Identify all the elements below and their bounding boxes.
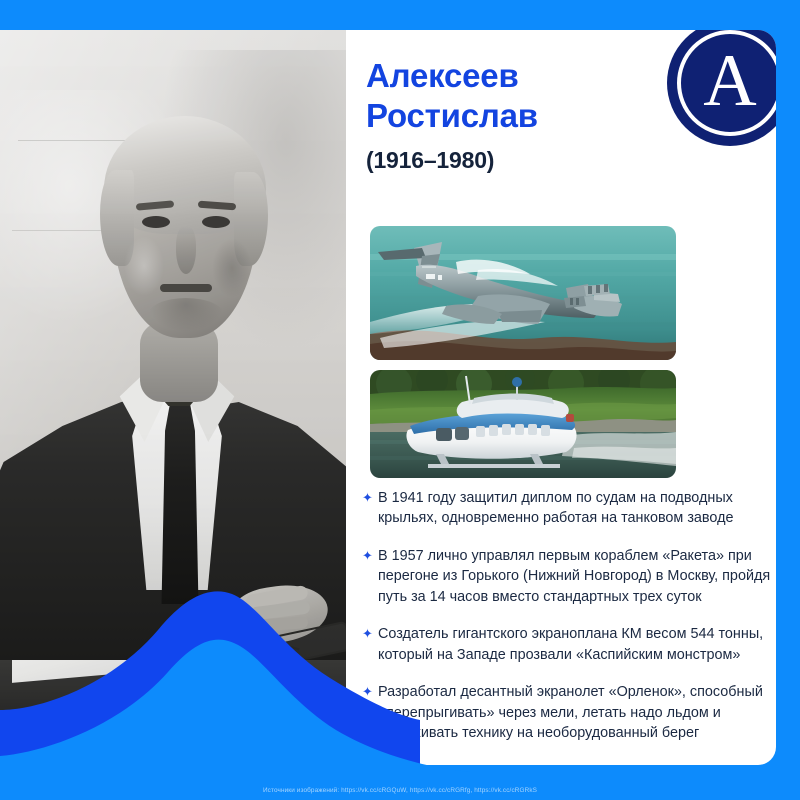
life-years: (1916–1980) bbox=[366, 147, 656, 174]
content-column: Алексеев Ростислав (1916–1980) A bbox=[362, 30, 776, 765]
image-sources-footer: Источники изображений: https://vk.cc/cRG… bbox=[0, 787, 800, 794]
list-item-text: В 1941 году защитил диплом по судам на п… bbox=[378, 490, 734, 526]
page-title: Алексеев Ростислав (1916–1980) bbox=[366, 56, 656, 174]
diamond-bullet-icon: ✦ bbox=[362, 685, 373, 696]
facts-list: ✦ В 1941 году защитил диплом по судам на… bbox=[362, 488, 776, 761]
list-item-text: Создатель гигантского экраноплана КМ вес… bbox=[378, 626, 763, 662]
list-item: ✦ Создатель гигантского экраноплана КМ в… bbox=[362, 624, 776, 665]
list-item: ✦ В 1957 лично управлял первым кораблем … bbox=[362, 546, 776, 607]
list-item: ✦ Разработал десантный экранолет «Орлено… bbox=[362, 682, 776, 743]
title-firstname: Ростислав bbox=[366, 96, 656, 136]
photo-hydrofoil-art bbox=[370, 370, 676, 478]
title-surname: Алексеев bbox=[366, 56, 656, 96]
photo-tone-overlay bbox=[0, 30, 346, 765]
list-item-text: В 1957 лично управлял первым кораблем «Р… bbox=[378, 548, 770, 605]
info-card: Алексеев Ростислав (1916–1980) A bbox=[0, 30, 776, 765]
diamond-bullet-icon: ✦ bbox=[362, 491, 373, 502]
brand-logo: A bbox=[667, 30, 776, 146]
portrait-photo bbox=[0, 30, 346, 765]
photo-ekranoplan-art bbox=[370, 226, 676, 360]
list-item: ✦ В 1941 году защитил диплом по судам на… bbox=[362, 488, 776, 529]
logo-letter-a-icon: A bbox=[667, 30, 776, 146]
list-item-text: Разработал десантный экранолет «Орленок»… bbox=[378, 684, 763, 741]
photo-ekranoplan bbox=[370, 226, 676, 360]
photo-hydrofoil bbox=[370, 370, 676, 478]
diamond-bullet-icon: ✦ bbox=[362, 627, 373, 638]
diamond-bullet-icon: ✦ bbox=[362, 549, 373, 560]
